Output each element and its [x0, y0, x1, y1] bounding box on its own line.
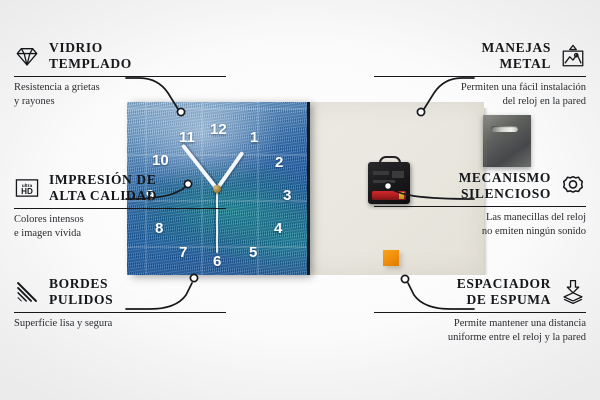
clock-numeral-5: 5 — [249, 245, 257, 260]
feature-desc-line1: Permite mantener una distancia — [374, 317, 586, 331]
gear-icon — [560, 173, 586, 199]
feature-desc-line1: Resistencia a grietas — [14, 81, 226, 95]
feature-manejas-metal: MANEJAS METAL Permiten una fácil instala… — [374, 40, 586, 109]
feature-title-line2: METAL — [482, 56, 551, 72]
feature-title-line1: ESPACIADOR — [457, 276, 551, 292]
feature-title-line1: IMPRESIÓN DE — [49, 172, 157, 188]
feature-vidrio-templado: VIDRIO TEMPLADO Resistencia a grietas y … — [14, 40, 226, 109]
feature-title-line1: BORDES — [49, 276, 113, 292]
clock-numeral-12: 12 — [210, 122, 227, 137]
feature-title-line1: MANEJAS — [482, 40, 551, 56]
feature-divider — [14, 208, 226, 209]
feature-title-line2: SILENCIOSO — [459, 186, 551, 202]
clock-numeral-3: 3 — [283, 188, 291, 203]
feature-divider — [14, 312, 226, 313]
svg-text:HD: HD — [21, 187, 33, 196]
feature-divider — [374, 76, 586, 77]
mechanism-hook — [379, 156, 401, 167]
feature-divider — [374, 206, 586, 207]
feature-title-line1: MECANISMO — [459, 170, 551, 186]
wall-hanging-frame-icon — [560, 43, 586, 69]
infographic-canvas: 12 1 2 3 4 5 6 7 8 9 10 11 — [0, 0, 600, 400]
ultra-hd-icon: ultra HD — [14, 175, 40, 201]
clock-numeral-10: 10 — [152, 153, 169, 168]
polished-edges-icon — [14, 279, 40, 305]
hanger-keyhole-slot — [491, 126, 518, 132]
feature-mecanismo-silencioso: MECANISMO SILENCIOSO Las manecillas del … — [374, 170, 586, 239]
feature-desc-line1: Permiten una fácil instalación — [374, 81, 586, 95]
feature-desc-line2: uniforme entre el reloj y la pared — [374, 331, 586, 345]
feature-desc-line2: no emiten ningún sonido — [374, 225, 586, 239]
feature-bordes-pulidos: BORDES PULIDOS Superficie lisa y segura — [14, 276, 226, 331]
feature-divider — [14, 76, 226, 77]
feature-title-line2: PULIDOS — [49, 292, 113, 308]
feature-impresion-alta-calidad: ultra HD IMPRESIÓN DE ALTA CALIDAD Color… — [14, 172, 226, 241]
feature-divider — [374, 312, 586, 313]
foam-spacer-arrow-icon — [560, 279, 586, 305]
feature-desc-line2: y rayones — [14, 95, 226, 109]
clock-numeral-1: 1 — [250, 130, 258, 145]
clock-numeral-7: 7 — [179, 245, 187, 260]
clock-numeral-11: 11 — [179, 130, 195, 145]
feature-desc-line2: del reloj en la pared — [374, 95, 586, 109]
diamond-icon — [14, 43, 40, 69]
foam-spacer-photo — [383, 250, 399, 266]
feature-desc-line1: Colores intensos — [14, 213, 226, 227]
feature-espaciador-de-espuma: ESPACIADOR DE ESPUMA Permite mantener un… — [374, 276, 586, 345]
clock-numeral-4: 4 — [274, 221, 282, 236]
feature-title-line2: TEMPLADO — [49, 56, 132, 72]
feature-desc-line1: Las manecillas del reloj — [374, 211, 586, 225]
feature-title-line2: ALTA CALIDAD — [49, 188, 157, 204]
feature-title-line1: VIDRIO — [49, 40, 132, 56]
feature-title-line2: DE ESPUMA — [457, 292, 551, 308]
feature-desc-line2: e imagen vívida — [14, 227, 226, 241]
clock-numeral-6: 6 — [213, 254, 221, 269]
feature-desc-line1: Superficie lisa y segura — [14, 317, 226, 331]
clock-numeral-2: 2 — [275, 155, 283, 170]
metal-hanger-plate — [483, 115, 531, 167]
